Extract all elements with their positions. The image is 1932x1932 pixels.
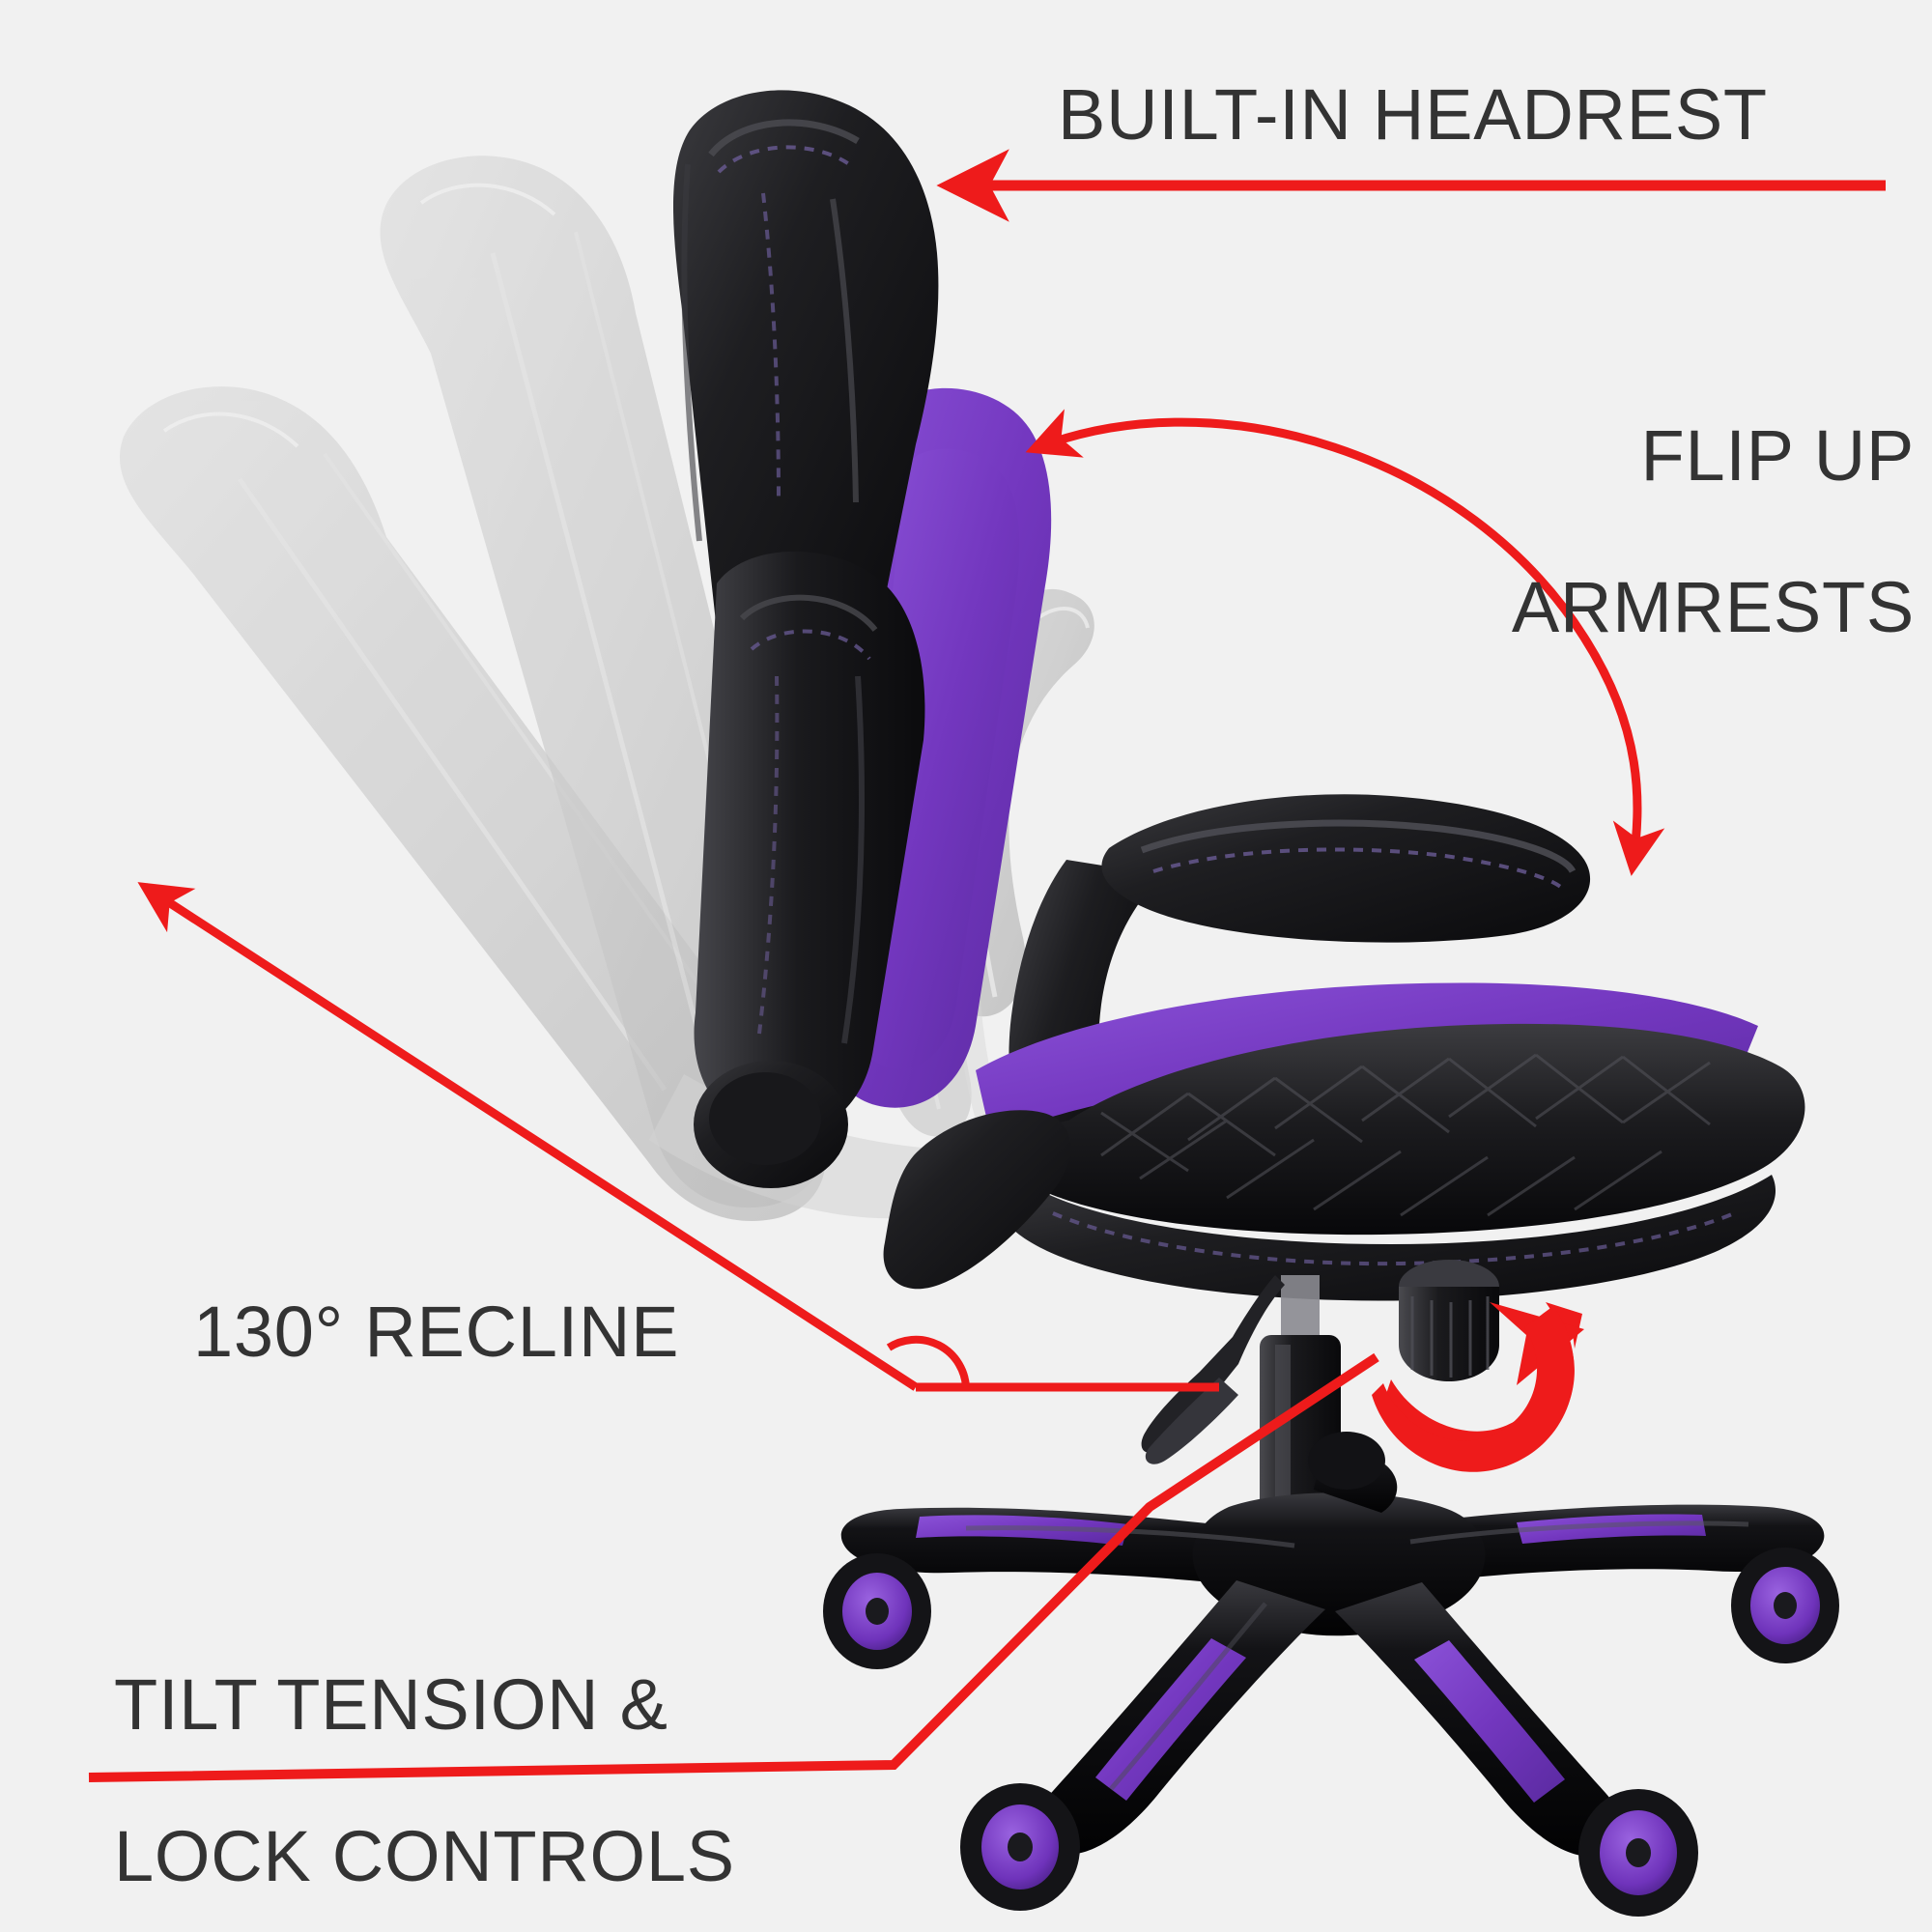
label-built-in-headrest: BUILT-IN HEADREST: [1058, 77, 1768, 153]
label-armrests-line2: ARMRESTS: [1512, 567, 1915, 647]
caster-wheel: [1308, 1432, 1385, 1490]
seat-side-bolster: [884, 1110, 1071, 1289]
label-tilt-tension-lock-controls: TILT TENSION & LOCK CONTROLS: [114, 1592, 735, 1895]
label-tilt-line2: LOCK CONTROLS: [114, 1816, 735, 1896]
caster-wheel: [1731, 1548, 1839, 1663]
label-tilt-line1: TILT TENSION &: [114, 1664, 668, 1745]
caster-wheel: [960, 1783, 1080, 1911]
tension-knob[interactable]: [1399, 1260, 1499, 1381]
label-130-recline: 130° RECLINE: [193, 1294, 679, 1370]
caster-wheel: [1578, 1789, 1698, 1917]
label-flip-up-line1: FLIP UP: [1641, 415, 1915, 496]
flip-up-armrest[interactable]: [1101, 794, 1590, 942]
caster-wheel: [823, 1553, 931, 1669]
label-flip-up-armrests: FLIP UP ARMRESTS: [1512, 343, 1915, 646]
